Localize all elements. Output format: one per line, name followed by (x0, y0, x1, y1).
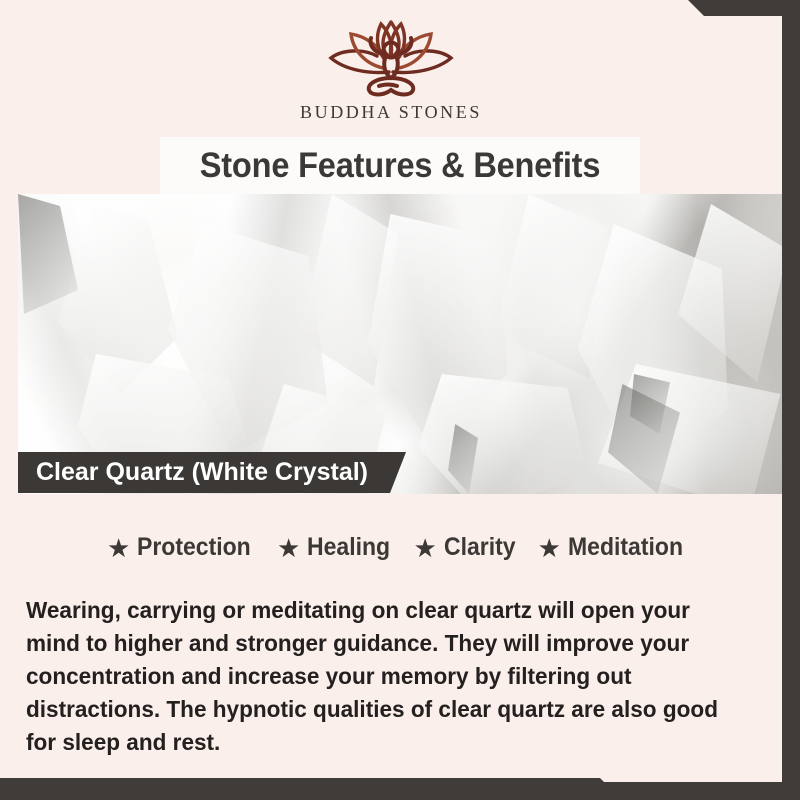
card-background: BUDDHA STONES Stone Features & Benefits (0, 0, 782, 782)
benefit-item-clarity: ★ Clarity (408, 533, 528, 562)
benefits-row: ★ Protection ★ Healing ★ Clarity ★ Medit… (18, 533, 782, 562)
benefit-item-meditation: ★ Meditation (532, 533, 699, 562)
brand-name: BUDDHA STONES (0, 102, 782, 123)
stone-name-label: Clear Quartz (White Crystal) (18, 452, 406, 493)
benefit-label: Healing (307, 533, 390, 562)
lotus-meditation-figure-icon (311, 14, 471, 100)
stone-info-card: BUDDHA STONES Stone Features & Benefits (0, 0, 800, 800)
star-icon: ★ (414, 535, 437, 561)
benefit-label: Protection (137, 533, 251, 562)
star-icon: ★ (538, 535, 561, 561)
benefit-item-protection: ★ Protection (101, 533, 267, 562)
frame-right-edge (782, 0, 800, 800)
brand-logo: BUDDHA STONES (0, 14, 782, 123)
benefit-label: Meditation (568, 533, 683, 562)
benefit-label: Clarity (444, 533, 516, 562)
header-section: BUDDHA STONES Stone Features & Benefits (0, 0, 782, 194)
star-icon: ★ (277, 535, 300, 561)
stone-photo (18, 194, 782, 494)
benefit-item-healing: ★ Healing (271, 533, 404, 562)
star-icon: ★ (107, 535, 130, 561)
description-text: Wearing, carrying or meditating on clear… (26, 594, 748, 759)
page-title: Stone Features & Benefits (177, 140, 623, 192)
